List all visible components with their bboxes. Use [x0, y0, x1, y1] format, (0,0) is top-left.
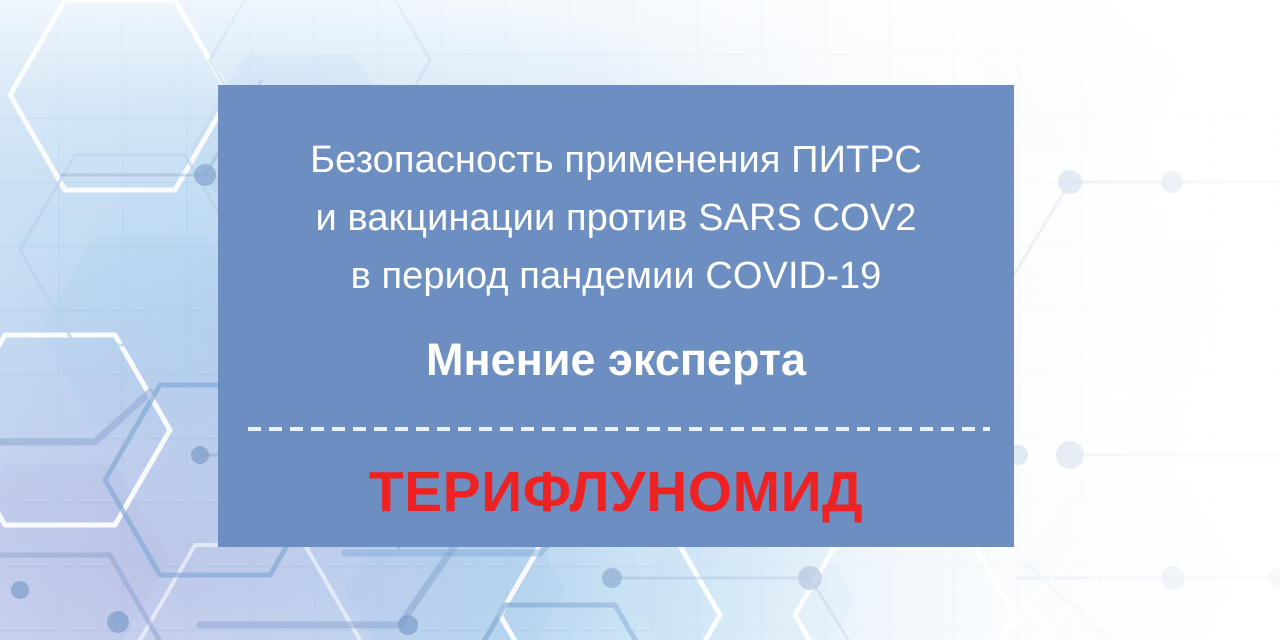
dashed-divider — [248, 427, 990, 431]
drug-name-heading: ТЕРИФЛУНОМИД — [248, 459, 984, 525]
title-line-1: Безопасность применения ПИТРС — [248, 131, 984, 189]
title-line-3: в период пандемии COVID-19 — [248, 247, 984, 305]
presentation-slide: Безопасность применения ПИТРС и вакцинац… — [0, 0, 1280, 640]
title-block: Безопасность применения ПИТРС и вакцинац… — [248, 131, 984, 305]
title-line-2: и вакцинации против SARS COV2 — [248, 189, 984, 247]
subtitle-expert-opinion: Мнение эксперта — [248, 329, 984, 391]
title-card: Безопасность применения ПИТРС и вакцинац… — [218, 85, 1014, 547]
